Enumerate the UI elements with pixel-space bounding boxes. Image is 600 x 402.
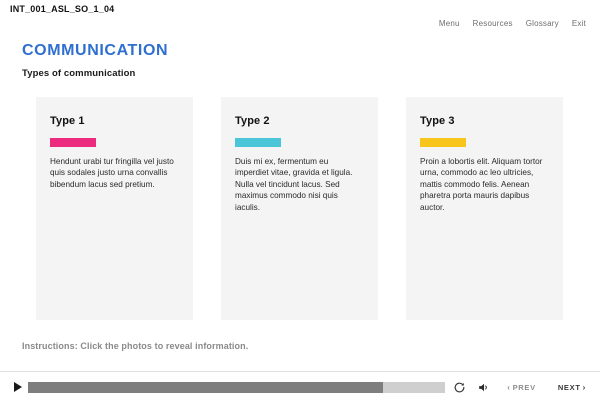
color-swatch-cyan <box>235 138 281 147</box>
nav-item-menu[interactable]: Menu <box>439 19 460 28</box>
progress-scrubber[interactable] <box>28 382 445 393</box>
chevron-right-icon: › <box>583 383 586 392</box>
page-title: COMMUNICATION <box>22 42 168 60</box>
card-type-1[interactable]: Type 1 Hendunt urabi tur fringilla vel j… <box>36 97 193 320</box>
prev-button[interactable]: ‹ PREV <box>503 383 540 392</box>
color-swatch-yellow <box>420 138 466 147</box>
play-icon[interactable] <box>8 382 28 392</box>
progress-fill <box>28 382 383 393</box>
color-swatch-pink <box>50 138 96 147</box>
card-body: Proin a lobortis elit. Aliquam tortor ur… <box>420 156 549 213</box>
nav-item-glossary[interactable]: Glossary <box>526 19 559 28</box>
volume-icon[interactable] <box>471 375 495 399</box>
heading-block: COMMUNICATION Types of communication <box>22 42 168 79</box>
nav-item-exit[interactable]: Exit <box>572 19 586 28</box>
card-body: Duis mi ex, fermentum eu imperdiet vitae… <box>235 156 364 213</box>
card-type-2[interactable]: Type 2 Duis mi ex, fermentum eu imperdie… <box>221 97 378 320</box>
play-triangle <box>14 382 22 392</box>
page-subtitle: Types of communication <box>22 68 168 79</box>
chevron-left-icon: ‹ <box>507 383 510 392</box>
next-button-label: NEXT <box>558 383 581 392</box>
instructions-text: Instructions: Click the photos to reveal… <box>22 341 248 351</box>
card-title: Type 3 <box>420 115 549 127</box>
card-title: Type 2 <box>235 115 364 127</box>
nav-item-resources[interactable]: Resources <box>473 19 513 28</box>
replay-icon[interactable] <box>447 375 471 399</box>
card-title: Type 1 <box>50 115 179 127</box>
card-type-3[interactable]: Type 3 Proin a lobortis elit. Aliquam to… <box>406 97 563 320</box>
top-navigation: Menu Resources Glossary Exit <box>439 19 586 28</box>
prev-button-label: PREV <box>513 383 536 392</box>
card-body: Hendunt urabi tur fringilla vel justo qu… <box>50 156 179 190</box>
next-button[interactable]: NEXT › <box>554 383 590 392</box>
player-bar: ‹ PREV NEXT › <box>0 371 600 402</box>
cards-row: Type 1 Hendunt urabi tur fringilla vel j… <box>36 97 564 320</box>
player-controls: ‹ PREV NEXT › <box>447 375 600 399</box>
slide-id-label: INT_001_ASL_SO_1_04 <box>10 4 114 14</box>
